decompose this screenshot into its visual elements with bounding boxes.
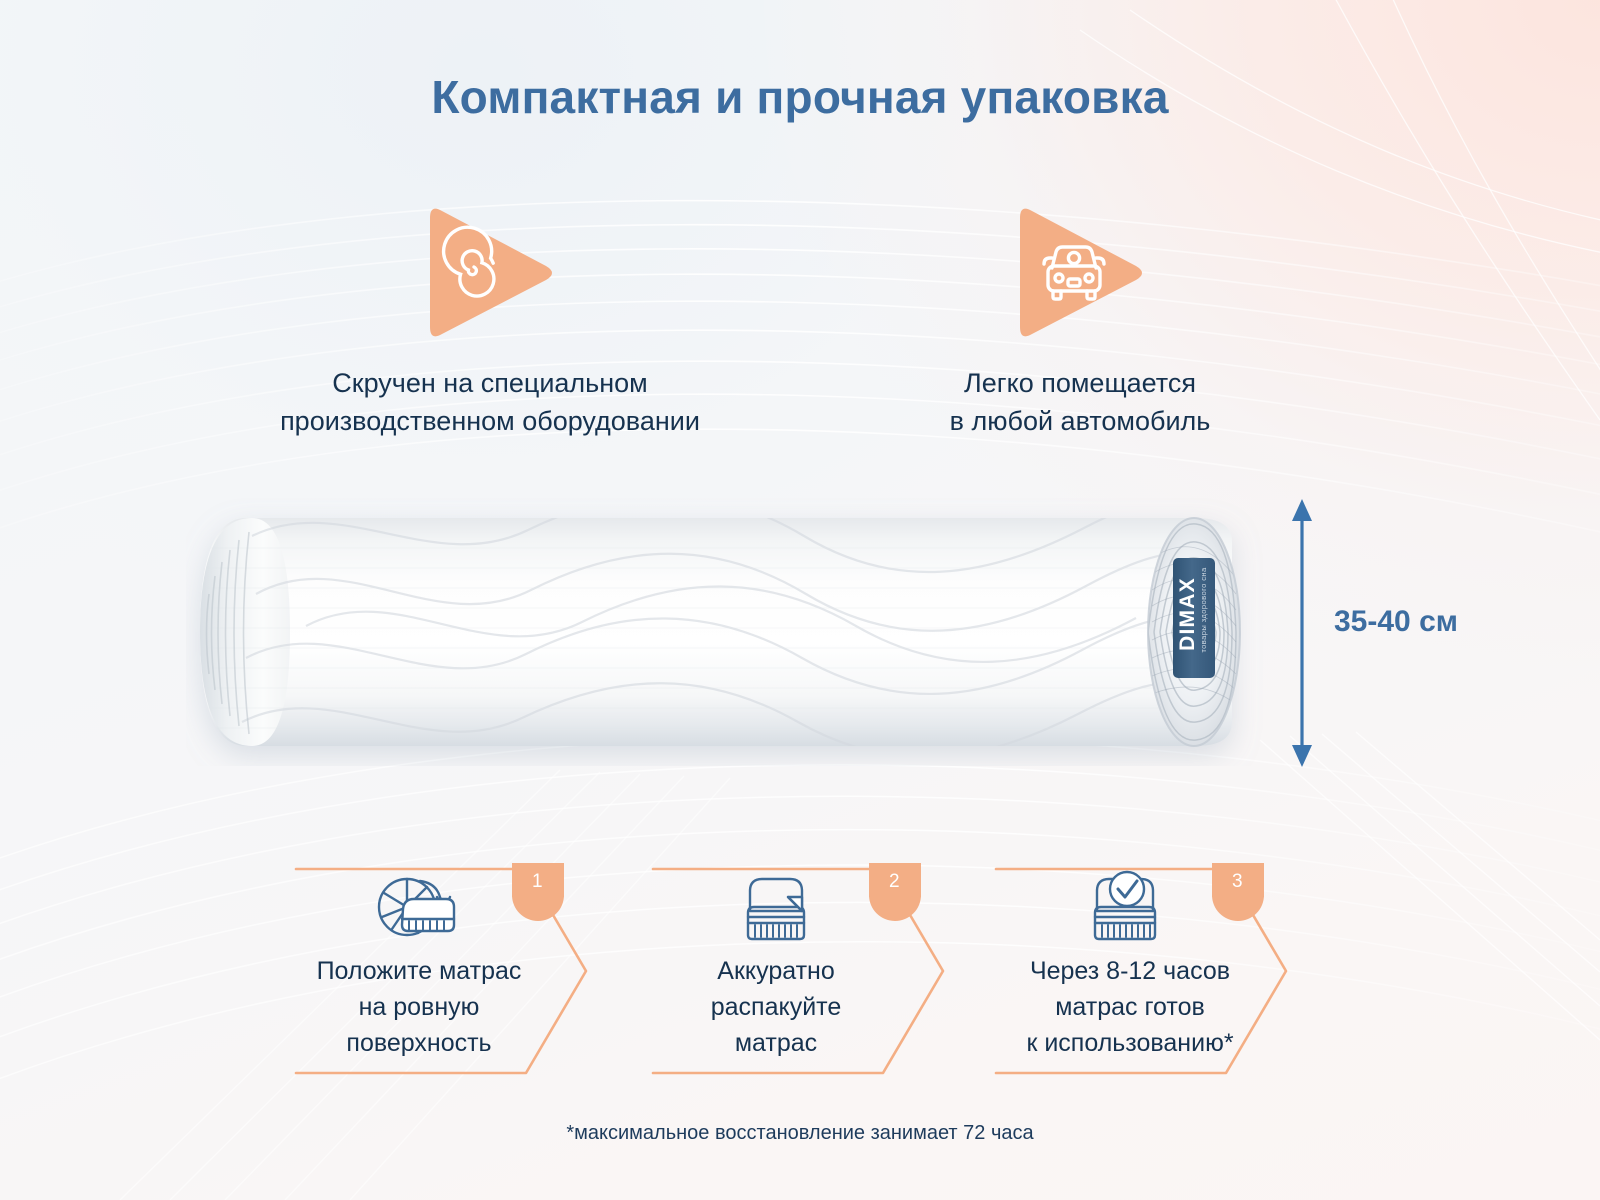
step-3: 3 Через 8-12 часов матрас готов к исполь… (990, 845, 1320, 1095)
step-1: 1 Положите матрас на ровную поверхность (290, 845, 620, 1095)
step-icon-container (290, 867, 545, 956)
mattress-unwrap-icon (736, 867, 816, 951)
rolled-mattress-illustration: DIMAX товары здорового сна (186, 498, 1276, 766)
dimension-label: 35-40 см (1334, 605, 1458, 639)
step-text: Аккуратно распакуйте матрас (647, 953, 905, 1061)
brand-tag: DIMAX товары здорового сна (1173, 558, 1215, 678)
step-icon-container (647, 867, 905, 956)
feature-rolled-on-equipment: Скручен на специальном производственном … (180, 196, 800, 441)
feature-icon-container (410, 196, 570, 346)
rolled-mattress-unrolling-icon (370, 867, 466, 951)
feature-label: Скручен на специальном производственном … (180, 364, 800, 441)
footnote: *максимальное восстановление занимает 72… (0, 1122, 1600, 1145)
step-text: Через 8-12 часов матрас готов к использо… (990, 953, 1270, 1061)
car-icon (1000, 196, 1160, 346)
svg-text:DIMAX: DIMAX (1176, 577, 1199, 651)
step-text: Положите матрас на ровную поверхность (290, 953, 548, 1061)
svg-text:товары здорового сна: товары здорового сна (1199, 567, 1208, 653)
step-icon-container (990, 867, 1260, 956)
page-title: Компактная и прочная упаковка (0, 70, 1600, 124)
dimension-indicator: 35-40 см (1288, 495, 1588, 770)
infographic-canvas: Компактная и прочная упаковка Скручен на… (0, 0, 1600, 1200)
spiral-icon (410, 196, 570, 346)
feature-fits-any-car: Легко помещается в любой автомобиль (830, 196, 1330, 441)
feature-label: Легко помещается в любой автомобиль (830, 364, 1330, 441)
mattress-check-icon (1083, 867, 1167, 951)
feature-icon-container (1000, 196, 1160, 346)
step-2: 2 Аккуратно распакуйте матрас (647, 845, 977, 1095)
steps-row: 1 Положите матрас на ровную поверхность (290, 845, 1300, 1095)
